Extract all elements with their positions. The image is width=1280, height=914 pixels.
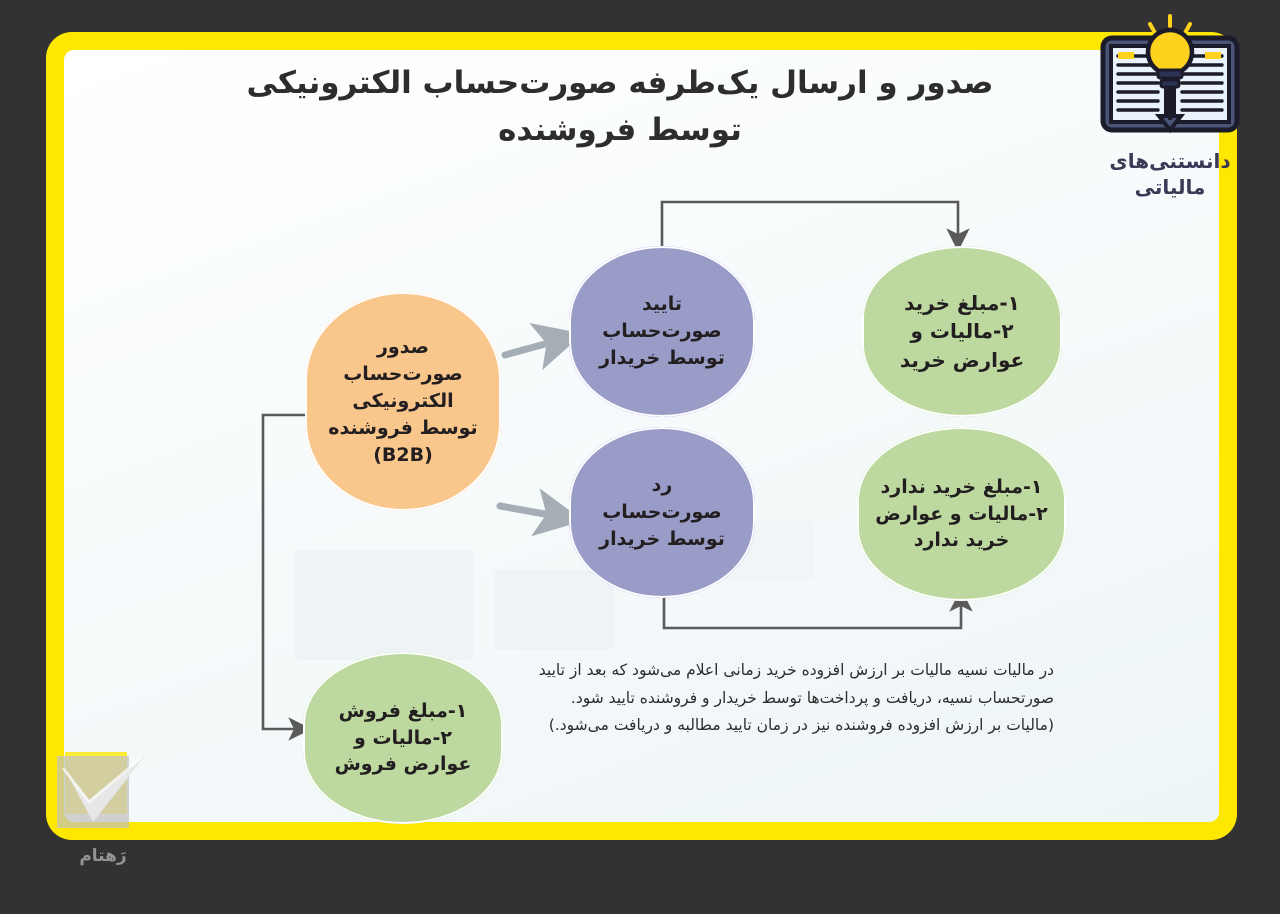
watermark-caption: رَهتام <box>38 846 168 866</box>
node-line: ۲-مالیات و <box>900 317 1024 345</box>
background-ghost-shape <box>294 550 474 660</box>
node-line: عوارض خرید <box>900 346 1024 374</box>
background-ghost-shape <box>494 570 614 650</box>
node-line: ۱-مبلغ فروش <box>335 698 472 725</box>
node-line: توسط خریدار <box>599 526 725 553</box>
brand-logo-caption-line-2: مالیاتی <box>1085 174 1255 200</box>
node-sales-amount-and-tax-body: ۱-مبلغ فروش ۲-مالیات و عوارض فروش <box>303 652 503 824</box>
note-paragraph-1: در مالیات نسیه مالیات بر ارزش افزوده خری… <box>527 657 1054 712</box>
node-line: عوارض فروش <box>335 751 472 778</box>
node-line: خرید ندارد <box>875 527 1047 554</box>
node-line: صورت‌حساب <box>328 361 477 388</box>
brand-logo-caption: دانستنی‌های مالیاتی <box>1085 148 1255 201</box>
brand-logo-caption-line-1: دانستنی‌های <box>1085 148 1255 174</box>
checkmark-logo-icon <box>49 748 157 840</box>
node-line: صورت‌حساب <box>599 499 725 526</box>
page-title-line-1: صدور و ارسال یک‌طرفه صورت‌حساب الکترونیک… <box>0 60 1240 107</box>
node-buyer-approves-body: تایید صورت‌حساب توسط خریدار <box>569 246 755 417</box>
node-buyer-rejects-body: رد صورت‌حساب توسط خریدار <box>569 427 755 598</box>
page-title-line-2: توسط فروشنده <box>0 107 1240 154</box>
note-paragraph-2: (مالیات بر ارزش افزوده فروشنده نیز در زم… <box>527 712 1054 740</box>
node-buyer-rejects[interactable]: رد صورت‌حساب توسط خریدار <box>569 427 755 598</box>
open-book-lightbulb-icon <box>1095 12 1245 140</box>
node-line: ۱-مبلغ خرید ندارد <box>875 474 1047 501</box>
explanatory-note: در مالیات نسیه مالیات بر ارزش افزوده خری… <box>527 657 1054 740</box>
watermark: رَهتام <box>38 748 168 866</box>
node-issue-invoice-body: صدور صورت‌حساب الکترونیکی توسط فروشنده (… <box>305 292 501 511</box>
node-line: توسط فروشنده <box>328 415 477 442</box>
node-line: ۲-مالیات و عوارض <box>875 501 1047 528</box>
node-line: (B2B) <box>328 442 477 469</box>
node-sales-amount-and-tax[interactable]: ۱-مبلغ فروش ۲-مالیات و عوارض فروش <box>303 652 503 824</box>
node-line: صورت‌حساب <box>599 318 725 345</box>
node-issue-invoice[interactable]: صدور صورت‌حساب الکترونیکی توسط فروشنده (… <box>305 292 501 511</box>
node-purchase-amount-and-tax[interactable]: ۱-مبلغ خرید ۲-مالیات و عوارض خرید <box>862 246 1062 417</box>
node-no-purchase-amount-or-tax-body: ۱-مبلغ خرید ندارد ۲-مالیات و عوارض خرید … <box>857 427 1066 601</box>
node-buyer-approves[interactable]: تایید صورت‌حساب توسط خریدار <box>569 246 755 417</box>
node-purchase-amount-and-tax-body: ۱-مبلغ خرید ۲-مالیات و عوارض خرید <box>862 246 1062 417</box>
node-line: صدور <box>328 334 477 361</box>
node-line: توسط خریدار <box>599 345 725 372</box>
node-line: ۱-مبلغ خرید <box>900 289 1024 317</box>
node-line: تایید <box>599 291 725 318</box>
node-line: ۲-مالیات و <box>335 725 472 752</box>
brand-logo: دانستنی‌های مالیاتی <box>1085 12 1255 201</box>
node-line: رد <box>599 472 725 499</box>
node-line: الکترونیکی <box>328 388 477 415</box>
node-no-purchase-amount-or-tax[interactable]: ۱-مبلغ خرید ندارد ۲-مالیات و عوارض خرید … <box>857 427 1066 601</box>
